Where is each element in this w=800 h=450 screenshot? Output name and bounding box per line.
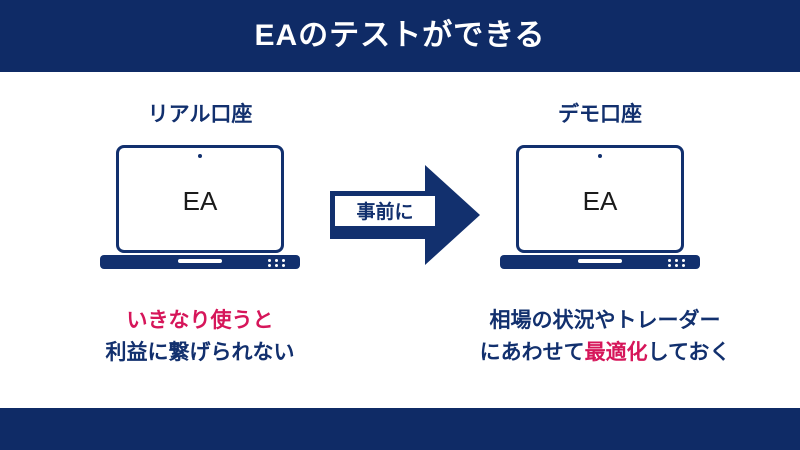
speaker-dots-icon [668,259,692,265]
right-caption-line2: にあわせて最適化しておく [420,337,790,369]
trackpad-notch-icon [178,259,222,263]
laptop-demo-account: EA [500,145,700,275]
left-account-label: リアル口座 [50,104,350,125]
left-caption-line2: 利益に繋げられない [20,337,380,369]
laptop-real-account: EA [100,145,300,275]
right-caption-line1: 相場の状況やトレーダー [420,305,790,337]
left-screen-text: EA [183,188,218,214]
laptop-screen-right: EA [516,145,684,253]
right-account-label: デモ口座 [450,104,750,125]
page-title: EAのテストができる [254,21,545,51]
webcam-icon [598,154,602,158]
left-caption: いきなり使うと 利益に繋げられない [20,305,380,368]
webcam-icon [198,154,202,158]
left-caption-line1: いきなり使うと [20,305,380,337]
header-band: EAのテストができる [0,0,800,72]
footer-band [0,408,800,450]
trackpad-notch-icon [578,259,622,263]
right-caption-line2-c: しておく [648,341,731,364]
laptop-screen-left: EA [116,145,284,253]
right-caption-line2-a: にあわせて [480,341,585,364]
right-caption: 相場の状況やトレーダー にあわせて最適化しておく [420,305,790,368]
speaker-dots-icon [268,259,292,265]
slide-canvas: EAのテストができる リアル口座 デモ口座 EA 事前に EA [0,0,800,450]
laptop-base-right [500,255,700,269]
right-caption-highlight: 最適化 [585,341,648,364]
laptop-base-left [100,255,300,269]
right-screen-text: EA [583,188,618,214]
arrow-label: 事前に [335,203,435,222]
